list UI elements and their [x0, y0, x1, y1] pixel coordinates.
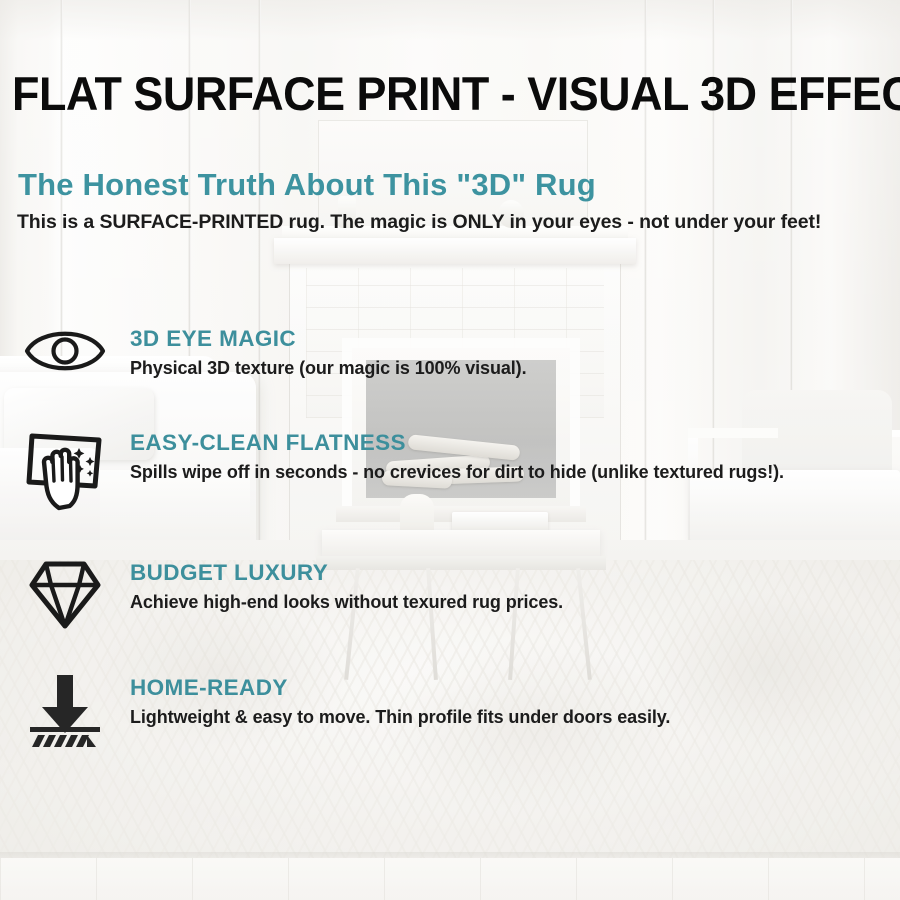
overlay-content: FLAT SURFACE PRINT - VISUAL 3D EFFECT ON…	[0, 0, 900, 900]
feature-title: HOME-READY	[130, 675, 670, 701]
feature-title: EASY-CLEAN FLATNESS	[130, 430, 784, 456]
feature-description: Spills wipe off in seconds - no crevices…	[130, 459, 784, 485]
feature-item-3d-eye-magic: 3D EYE MAGIC Physical 3D texture (our ma…	[0, 318, 900, 422]
hand-wipe-sparkle-icon	[0, 422, 130, 518]
feature-item-home-ready: HOME-READY Lightweight & easy to move. T…	[0, 667, 900, 777]
feature-title: 3D EYE MAGIC	[130, 326, 526, 352]
feature-text: HOME-READY Lightweight & easy to move. T…	[130, 667, 670, 730]
diamond-icon	[0, 552, 130, 632]
promo-graphic: FLAT SURFACE PRINT - VISUAL 3D EFFECT ON…	[0, 0, 900, 900]
down-arrow-floor-icon	[0, 667, 130, 751]
eye-icon	[0, 318, 130, 380]
feature-list: 3D EYE MAGIC Physical 3D texture (our ma…	[0, 318, 900, 777]
section-subheading: The Honest Truth About This "3D" Rug	[18, 166, 868, 204]
intro-paragraph: This is a SURFACE-PRINTED rug. The magic…	[17, 208, 862, 237]
headline-banner: FLAT SURFACE PRINT - VISUAL 3D EFFECT ON…	[12, 69, 850, 119]
feature-item-easy-clean-flatness: EASY-CLEAN FLATNESS Spills wipe off in s…	[0, 422, 900, 552]
feature-title: BUDGET LUXURY	[130, 560, 563, 586]
feature-text: 3D EYE MAGIC Physical 3D texture (our ma…	[130, 318, 526, 381]
feature-item-budget-luxury: BUDGET LUXURY Achieve high-end looks wit…	[0, 552, 900, 667]
feature-description: Lightweight & easy to move. Thin profile…	[130, 704, 670, 730]
feature-description: Physical 3D texture (our magic is 100% v…	[130, 355, 526, 381]
feature-text: BUDGET LUXURY Achieve high-end looks wit…	[130, 552, 563, 615]
feature-description: Achieve high-end looks without texured r…	[130, 589, 563, 615]
feature-text: EASY-CLEAN FLATNESS Spills wipe off in s…	[130, 422, 784, 485]
